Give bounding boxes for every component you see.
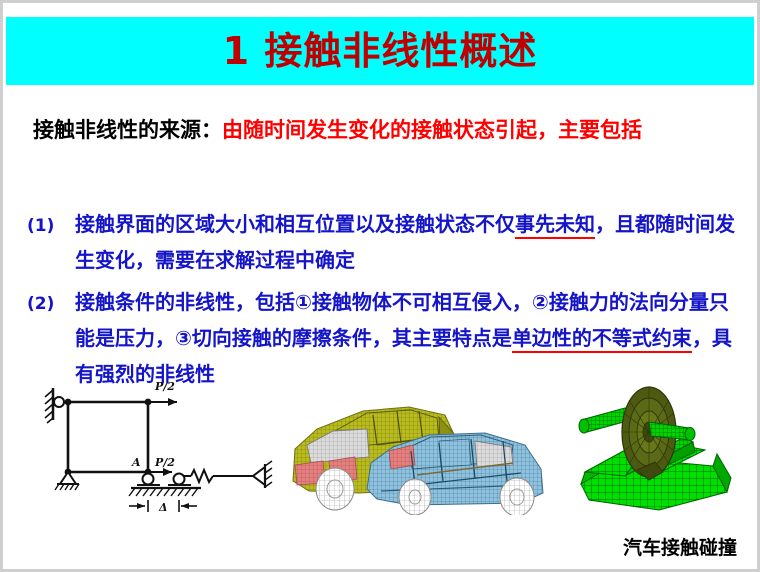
car-crash-figure: 汽车接触碰撞 [289, 385, 551, 515]
car-crash-svg [289, 385, 551, 515]
schematic-label-force-bottom: P/2 [154, 456, 175, 469]
list-text-underlined: 事先未知 [515, 212, 595, 239]
contact-schematic-figure: P/2 P/2 A Δ [31, 380, 281, 515]
wheel-rail-svg [563, 380, 748, 515]
numbered-list: (1) 接触界面的区域大小和相互位置以及接触状态不仅事先未知，且都随时间发生变化… [27, 206, 743, 398]
list-text-plain: 接触界面的区域大小和相互位置以及接触状态不仅 [75, 212, 515, 236]
intro-red-text: 由随时间发生变化的接触状态引起，主要包括 [222, 118, 642, 142]
intro-label: 接触非线性的来源： [33, 118, 222, 142]
intro-paragraph: 接触非线性的来源：由随时间发生变化的接触状态引起，主要包括 [33, 113, 739, 147]
page-title: 1 接触非线性概述 [223, 32, 538, 70]
list-item-number: (2) [27, 284, 75, 322]
list-item-body: 接触界面的区域大小和相互位置以及接触状态不仅事先未知，且都随时间发生变化，需要在… [75, 206, 743, 278]
caption-car-crash: 汽车接触碰撞 [623, 533, 737, 560]
schematic-label-point-a: A [131, 456, 141, 469]
title-banner: 1 接触非线性概述 [6, 17, 754, 85]
schematic-svg: P/2 P/2 A Δ [31, 380, 281, 515]
schematic-label-gap: Δ [158, 501, 168, 514]
figures-row: P/2 P/2 A Δ [3, 375, 757, 565]
schematic-label-force-top: P/2 [154, 380, 175, 393]
list-item: (1) 接触界面的区域大小和相互位置以及接触状态不仅事先未知，且都随时间发生变化… [27, 206, 743, 278]
slide-canvas: 1 接触非线性概述 接触非线性的来源：由随时间发生变化的接触状态引起，主要包括 … [0, 0, 760, 572]
list-item-number: (1) [27, 206, 75, 244]
wheel-rail-figure: 轮轨接触 [563, 380, 748, 515]
list-text-underlined: 单边性的不等式约束 [512, 326, 692, 353]
